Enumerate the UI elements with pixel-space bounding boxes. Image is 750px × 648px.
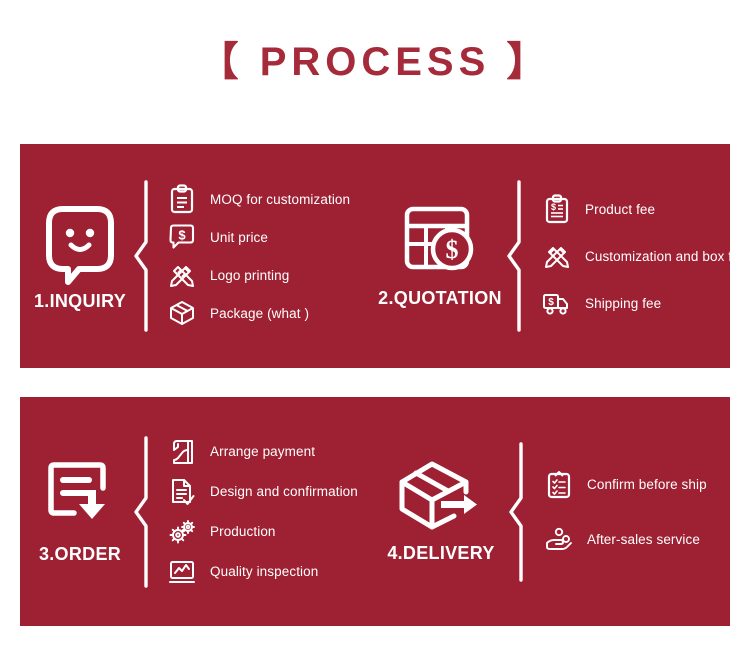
list-item[interactable]: Production — [166, 512, 375, 552]
table-dollar-icon: $ — [401, 204, 479, 280]
svg-text:$: $ — [178, 228, 186, 243]
pencil-ruler-icon — [166, 259, 198, 291]
list-item-label: Design and confirmation — [210, 484, 358, 499]
list-item[interactable]: MOQ for customization — [166, 180, 375, 218]
list-item[interactable]: Arrange payment — [166, 432, 375, 472]
svg-text:$: $ — [446, 235, 459, 264]
checklist-clipboard-icon — [543, 468, 575, 500]
stage-inquiry: 1.INQUIRY MOQ for customization — [20, 144, 375, 368]
stage-label-order: 3.ORDER — [39, 544, 121, 565]
item-list-order: Arrange payment Desig — [154, 432, 375, 592]
list-item[interactable]: Confirm before ship — [543, 457, 730, 512]
list-item-label: MOQ for customization — [210, 192, 350, 207]
crossed-pencils-icon — [541, 240, 573, 272]
box-icon — [166, 297, 198, 329]
stage-order: 3.ORDER Arrange payment — [20, 397, 375, 626]
stage-delivery: 4.DELIVERY — [375, 397, 730, 626]
list-item[interactable]: $ Shipping fee — [541, 280, 747, 327]
hand-card-icon — [166, 436, 198, 468]
chat-smile-icon — [41, 201, 119, 283]
box-arrow-icon — [396, 459, 486, 535]
svg-text:$: $ — [551, 202, 556, 212]
page-title: 【 PROCESS 】 — [0, 38, 750, 86]
svg-text:$: $ — [548, 297, 554, 308]
panel-inquiry-quotation: 1.INQUIRY MOQ for customization — [20, 144, 730, 368]
clipboard-icon — [166, 183, 198, 215]
item-list-quotation: $ Product fee — [527, 186, 747, 327]
list-item-label: Logo printing — [210, 268, 289, 283]
brace-divider-order — [132, 436, 154, 588]
list-item[interactable]: Package (what ) — [166, 294, 375, 332]
stage-badge-quotation: $ 2.QUOTATION — [375, 204, 505, 309]
list-item-label: Shipping fee — [585, 296, 661, 311]
list-item-label: Confirm before ship — [587, 477, 707, 492]
brace-divider-delivery — [507, 442, 529, 582]
list-item[interactable]: $ Product fee — [541, 186, 747, 233]
list-item[interactable]: $ Unit price — [166, 218, 375, 256]
list-item-label: Arrange payment — [210, 444, 315, 459]
item-list-delivery: Confirm before ship After-sales service — [529, 457, 730, 567]
stage-badge-inquiry: 1.INQUIRY — [20, 201, 132, 312]
list-item[interactable]: Quality inspection — [166, 552, 375, 592]
dollar-speech-bubble-icon: $ — [166, 221, 198, 253]
stage-label-inquiry: 1.INQUIRY — [34, 291, 126, 312]
document-check-icon — [166, 476, 198, 508]
list-item-label: Unit price — [210, 230, 268, 245]
stage-quotation: $ 2.QUOTATION $ — [375, 144, 730, 368]
gears-icon — [166, 516, 198, 548]
stage-label-delivery: 4.DELIVERY — [387, 543, 494, 564]
brace-divider-inquiry — [132, 180, 154, 332]
hand-service-icon — [543, 523, 575, 555]
list-item-label: Customization and box fee — [585, 249, 747, 264]
stage-badge-delivery: 4.DELIVERY — [375, 459, 507, 564]
list-item-label: Production — [210, 524, 276, 539]
invoice-clipboard-icon: $ — [541, 193, 573, 225]
brace-divider-quotation — [505, 180, 527, 332]
list-item[interactable]: Customization and box fee — [541, 233, 747, 280]
list-item[interactable]: Design and confirmation — [166, 472, 375, 512]
document-download-icon — [41, 458, 119, 536]
list-item[interactable]: After-sales service — [543, 512, 730, 567]
list-item[interactable]: Logo printing — [166, 256, 375, 294]
stage-label-quotation: 2.QUOTATION — [378, 288, 502, 309]
panel-order-delivery: 3.ORDER Arrange payment — [20, 397, 730, 626]
list-item-label: Product fee — [585, 202, 655, 217]
list-item-label: Quality inspection — [210, 564, 318, 579]
list-item-label: Package (what ) — [210, 306, 309, 321]
stage-badge-order: 3.ORDER — [20, 458, 132, 565]
truck-dollar-icon: $ — [541, 287, 573, 319]
list-item-label: After-sales service — [587, 532, 700, 547]
chart-monitor-icon — [166, 556, 198, 588]
item-list-inquiry: MOQ for customization $ Unit price — [154, 180, 375, 332]
